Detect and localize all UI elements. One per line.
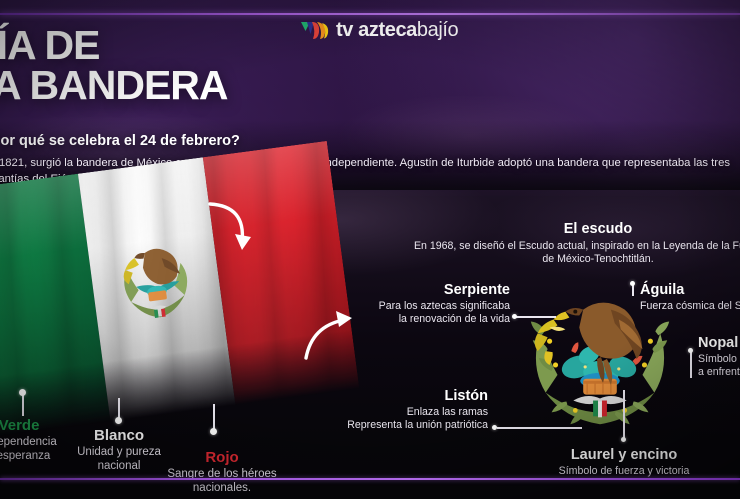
leader-line-nopal bbox=[690, 352, 692, 378]
annotation-nopal-description: Símbolo de a enfrentar bbox=[698, 353, 740, 379]
annotation-rojo: Rojo Sangre de los héroes nacionales. bbox=[152, 450, 292, 495]
annotation-serpiente-description: Para los aztecas significaba la renovaci… bbox=[330, 300, 510, 326]
annotation-laurel-description: Símbolo de fuerza y victoria bbox=[520, 465, 728, 478]
top-divider-rule bbox=[0, 13, 740, 15]
bottom-divider-rule bbox=[0, 478, 740, 480]
page-subtitle: ¿Por qué se celebra el 24 de febrero? bbox=[0, 133, 402, 149]
annotation-el-escudo-title: El escudo bbox=[398, 222, 740, 238]
annotation-el-escudo: El escudo En 1968, se diseñó el Escudo a… bbox=[398, 222, 740, 266]
leader-line-rojo bbox=[213, 404, 215, 430]
annotation-rojo-title: Rojo bbox=[152, 450, 292, 467]
annotation-laurel-y-encino: Laurel y encino Símbolo de fuerza y vict… bbox=[520, 448, 728, 478]
annotation-nopal-title: Nopal bbox=[698, 336, 740, 352]
annotation-laurel-title: Laurel y encino bbox=[520, 448, 728, 464]
annotation-blanco-title: Blanco bbox=[58, 428, 180, 445]
mexican-flag-photo bbox=[0, 141, 359, 438]
leader-dot-verde bbox=[19, 389, 26, 396]
annotation-aguila: Águila Fuerza cósmica del Sol bbox=[640, 283, 740, 313]
annotation-rojo-description: Sangre de los héroes nacionales. bbox=[152, 467, 292, 495]
annotation-serpiente: Serpiente Para los aztecas significaba l… bbox=[330, 283, 510, 326]
annotation-nopal: Nopal Símbolo de a enfrentar bbox=[698, 336, 740, 379]
annotation-liston-description: Enlaza las ramas Representa la unión pat… bbox=[330, 406, 488, 432]
leader-dot-nopal bbox=[688, 348, 693, 353]
annotation-liston: Listón Enlaza las ramas Representa la un… bbox=[330, 389, 488, 432]
annotation-serpiente-title: Serpiente bbox=[330, 283, 510, 299]
logo-word-light: bajío bbox=[417, 19, 458, 41]
leader-line-liston bbox=[497, 427, 582, 429]
leader-line-laurel bbox=[623, 390, 625, 440]
infographic-stage: tv aztecabajío DÍA DE LA BANDERA ¿Por qu… bbox=[0, 0, 740, 499]
leader-dot-rojo bbox=[210, 428, 217, 435]
leader-dot-liston bbox=[492, 425, 497, 430]
arrow-down-left-icon bbox=[196, 198, 266, 275]
leader-dot-serpiente bbox=[512, 314, 517, 319]
page-title: DÍA DE LA BANDERA bbox=[0, 26, 368, 106]
leader-dot-aguila bbox=[630, 281, 635, 286]
leader-dot-blanco bbox=[115, 417, 122, 424]
leader-dot-laurel bbox=[621, 437, 626, 442]
annotation-aguila-description: Fuerza cósmica del Sol bbox=[640, 300, 740, 313]
annotation-el-escudo-description: En 1968, se diseñó el Escudo actual, ins… bbox=[398, 240, 740, 266]
leader-line-serpiente bbox=[516, 316, 556, 318]
annotation-liston-title: Listón bbox=[330, 389, 488, 405]
annotation-aguila-title: Águila bbox=[640, 283, 740, 299]
